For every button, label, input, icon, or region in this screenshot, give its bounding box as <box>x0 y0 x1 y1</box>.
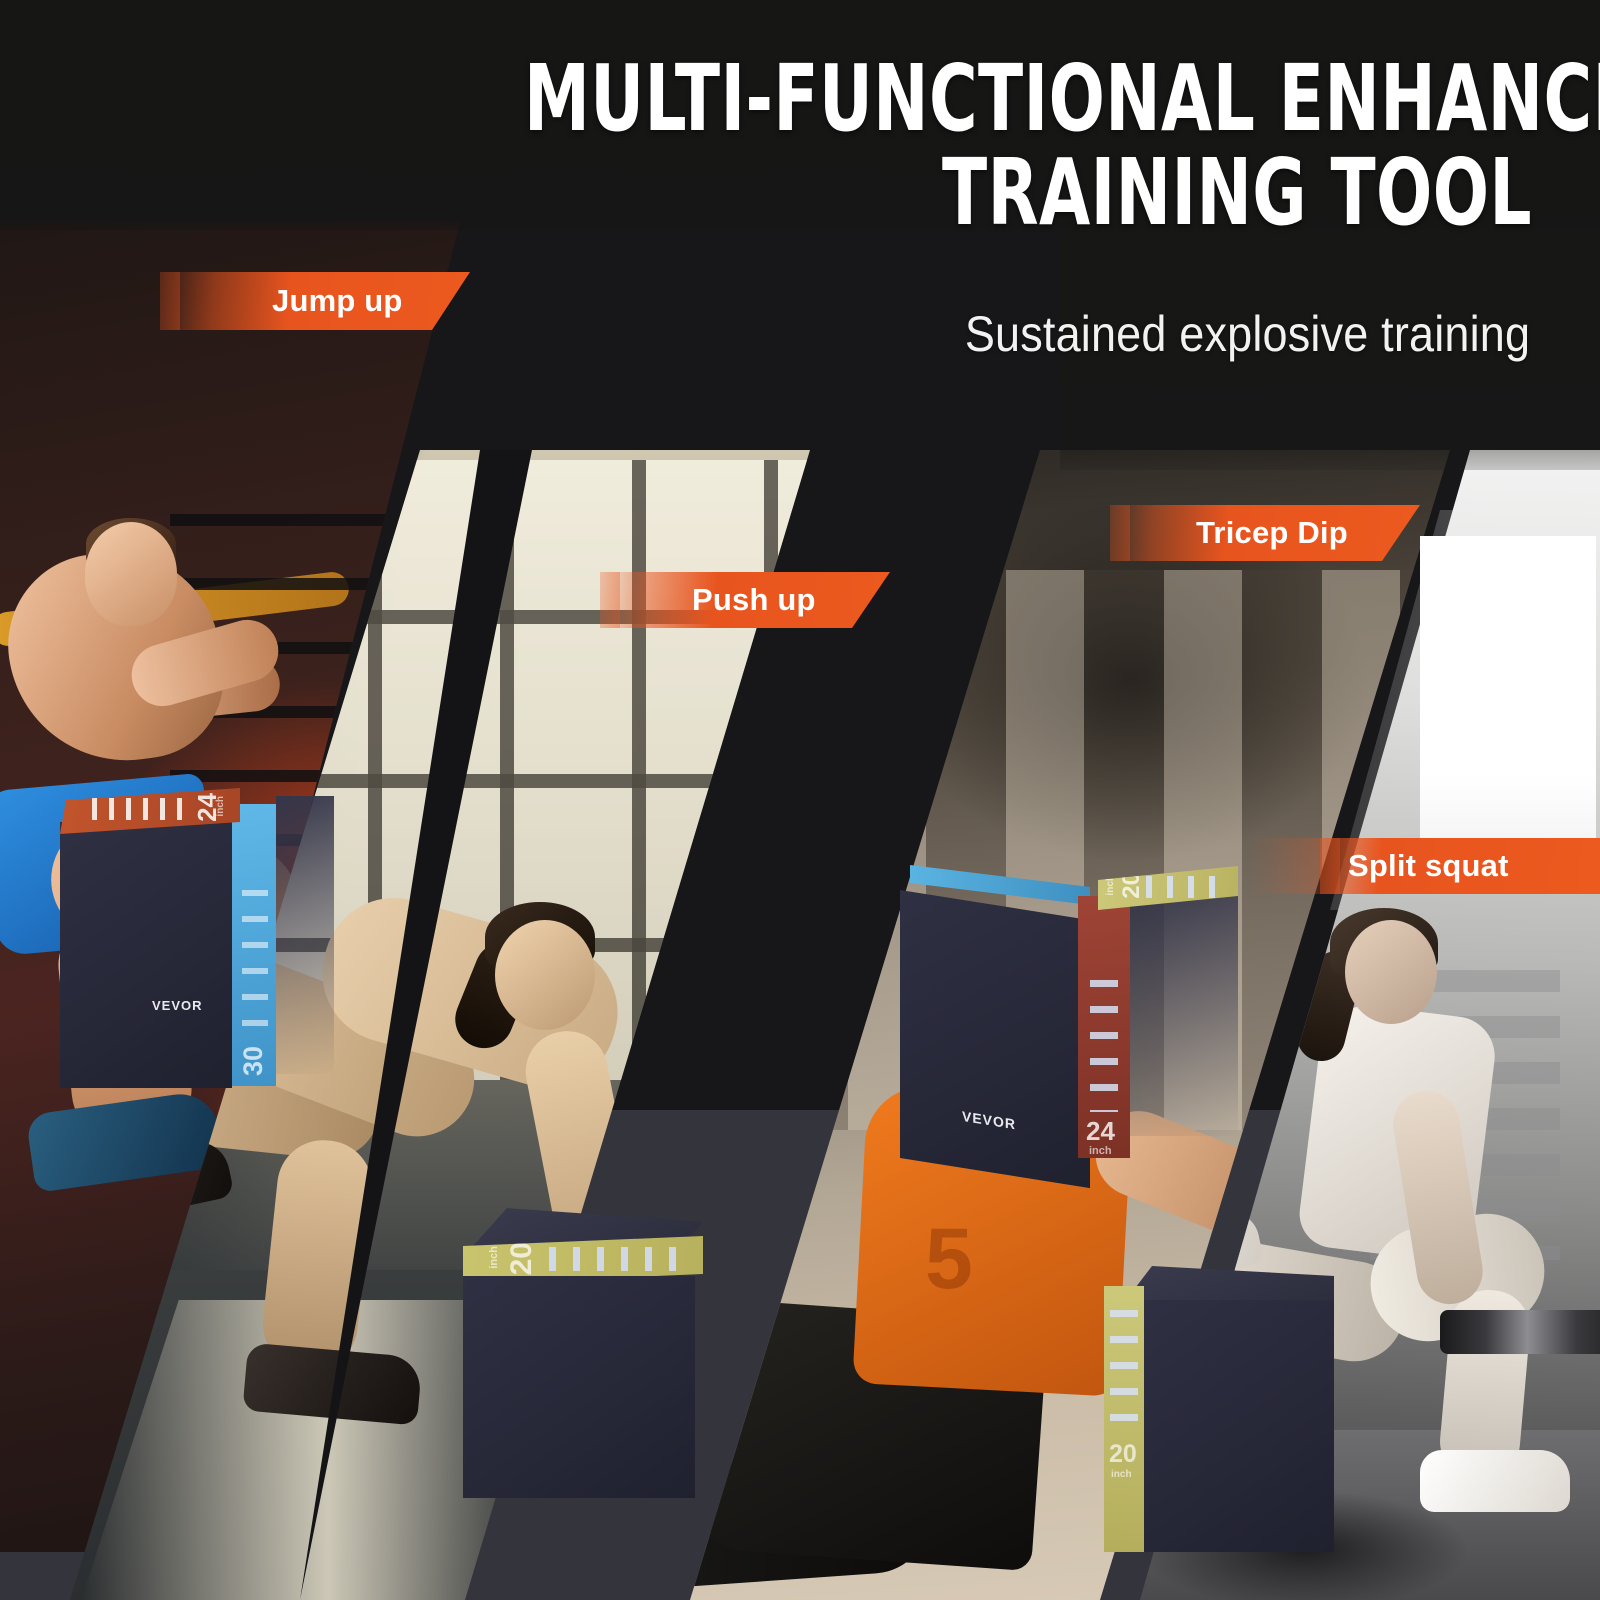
badge-jump-up-label: Jump up <box>272 283 403 319</box>
product-poster: 30 VEVOR 24 inch <box>0 0 1600 1600</box>
plyo-box-top-unit: inch <box>216 796 226 817</box>
plyo-box-front-face: VEVOR <box>60 822 232 1088</box>
plyo-box-side-band-red: 24 inch <box>1078 896 1130 1158</box>
badge-jump-up: Jump up <box>160 272 470 330</box>
plyo-box-back-face <box>276 796 334 1074</box>
badge-push-up: Push up <box>600 572 890 628</box>
chevron-icon <box>549 1247 689 1271</box>
header-backdrop <box>0 0 1600 230</box>
vevor-logo: VEVOR <box>152 998 203 1013</box>
chevron-icon <box>92 798 188 820</box>
dumbbell <box>1440 1310 1600 1354</box>
white-highlight-strip <box>1420 536 1596 866</box>
athlete-shoe-front <box>1420 1450 1570 1512</box>
plyo-box-side-unit: inch <box>1111 1470 1132 1480</box>
plyo-box-top-size: 20 <box>507 1242 537 1275</box>
plyo-box-side-band-blue: 30 <box>232 804 276 1086</box>
plyo-box-side-size: 30 <box>240 1046 267 1076</box>
athlete-head <box>1345 920 1437 1024</box>
plyo-box-side-size: 24 <box>1086 1118 1115 1144</box>
plyo-box-front-face <box>463 1276 695 1498</box>
badge-push-up-label: Push up <box>692 582 816 618</box>
athlete-shoe <box>25 1089 224 1193</box>
jersey-number: 5 <box>925 1210 973 1309</box>
badge-split-squat: Split squat <box>1320 838 1600 894</box>
badge-tricep-dip-label: Tricep Dip <box>1196 515 1348 551</box>
chevron-icon <box>242 890 268 1040</box>
plyo-box-top-size: 20 <box>1120 872 1144 899</box>
plyo-box-side-size: 20 <box>1109 1442 1137 1467</box>
plyo-box-right-face <box>1128 884 1238 1136</box>
plyo-box-front-face: VEVOR <box>900 890 1090 1188</box>
vevor-logo: VEVOR <box>962 1108 1016 1133</box>
plyo-box-push-up: 20 inch <box>455 1198 710 1498</box>
plyo-box-split-squat: 20 inch <box>1104 1252 1334 1552</box>
athlete-head <box>495 920 595 1030</box>
chevron-icon <box>1146 876 1230 898</box>
plyo-box-tricep-dip: VEVOR 24 inch 20 inch <box>900 860 1240 1160</box>
plyo-box-top-unit: inch <box>489 1246 500 1269</box>
plyo-box-side-band-green: 20 inch <box>1104 1286 1144 1552</box>
chevron-icon <box>1110 1310 1138 1430</box>
badge-tricep-dip: Tricep Dip <box>1110 505 1420 561</box>
plyo-box-jump-up: 30 VEVOR 24 inch <box>60 788 320 1088</box>
chevron-icon <box>1090 980 1118 1112</box>
badge-split-squat-label: Split squat <box>1348 848 1509 884</box>
athlete-head <box>85 522 177 626</box>
plyo-box-side-unit: inch <box>1089 1146 1112 1157</box>
plyo-box-top-unit: inch <box>1106 875 1116 896</box>
plyo-box-front-face <box>1138 1300 1334 1552</box>
